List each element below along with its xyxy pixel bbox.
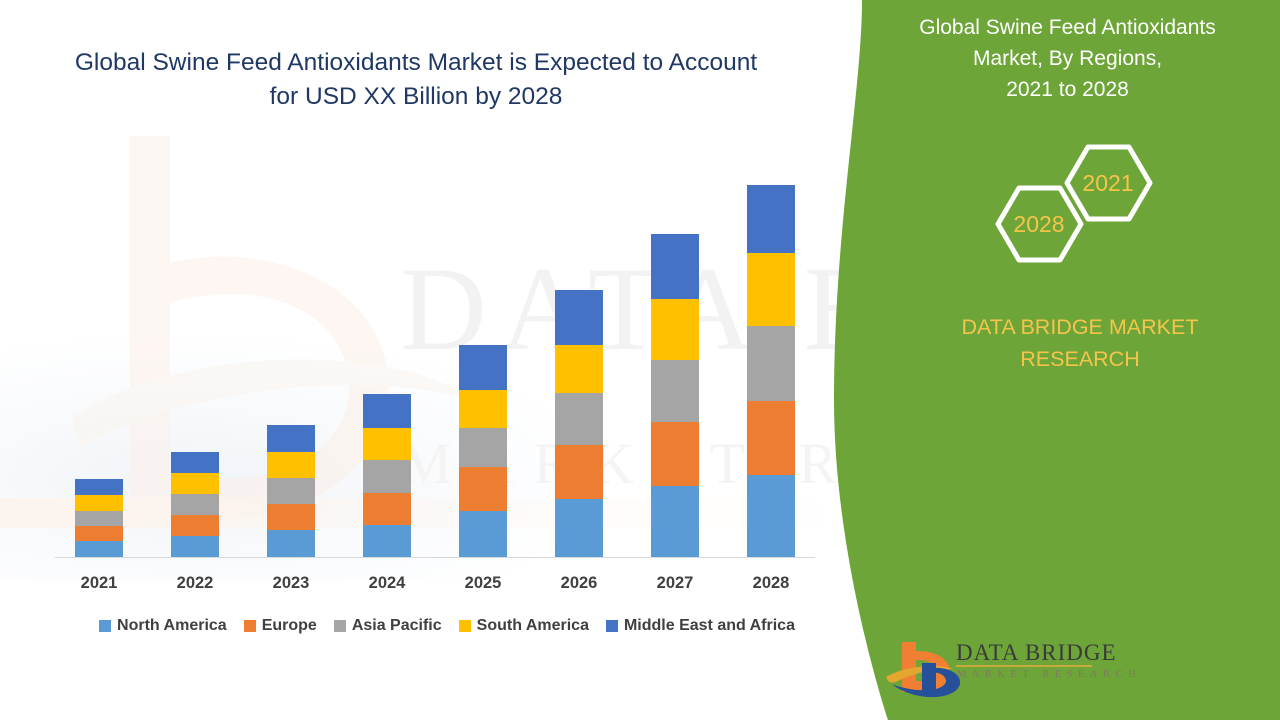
legend-item-north-america[interactable]: North America: [99, 617, 227, 635]
bar-2028[interactable]: [747, 185, 795, 557]
bar-segment-2022-europe[interactable]: [171, 515, 219, 536]
legend-item-asia-pacific[interactable]: Asia Pacific: [334, 617, 442, 635]
legend-swatch-icon: [334, 620, 346, 632]
legend-label: North America: [117, 617, 227, 635]
x-axis-label-2025: 2025: [438, 574, 528, 593]
x-axis-label-2022: 2022: [150, 574, 240, 593]
bar-segment-2023-north-america[interactable]: [267, 530, 315, 557]
x-axis-label-2021: 2021: [54, 574, 144, 593]
bar-segment-2026-europe[interactable]: [555, 445, 603, 499]
bar-segment-2024-middle-east-and-africa[interactable]: [363, 394, 411, 428]
bar-segment-2026-north-america[interactable]: [555, 499, 603, 557]
bar-segment-2028-middle-east-and-africa[interactable]: [747, 185, 795, 253]
hexagon-pair: 2021 2028: [960, 140, 1190, 290]
x-axis-line: [55, 557, 815, 558]
bar-segment-2027-north-america[interactable]: [651, 486, 699, 557]
x-axis-label-2023: 2023: [246, 574, 336, 593]
legend-swatch-icon: [459, 620, 471, 632]
legend-swatch-icon: [99, 620, 111, 632]
bar-segment-2026-middle-east-and-africa[interactable]: [555, 290, 603, 345]
panel-title-line-3: 2021 to 2028: [1006, 78, 1129, 101]
panel-title-line-1: Global Swine Feed Antioxidants: [919, 16, 1216, 39]
legend-item-europe[interactable]: Europe: [244, 617, 317, 635]
bar-segment-2023-europe[interactable]: [267, 504, 315, 530]
logo-wordmark: DATA BRIDGE: [956, 640, 1117, 666]
bar-segment-2028-south-america[interactable]: [747, 253, 795, 326]
bar-segment-2027-europe[interactable]: [651, 422, 699, 486]
bar-segment-2028-europe[interactable]: [747, 401, 795, 475]
bar-segment-2028-asia-pacific[interactable]: [747, 326, 795, 401]
hexagon-label-2028: 2028: [1001, 211, 1077, 238]
bar-segment-2021-south-america[interactable]: [75, 495, 123, 511]
brand-line-1: DATA BRIDGE MARKET: [962, 315, 1199, 339]
legend-label: Middle East and Africa: [624, 617, 795, 635]
bar-segment-2025-asia-pacific[interactable]: [459, 428, 507, 467]
bar-segment-2024-south-america[interactable]: [363, 428, 411, 460]
bar-segment-2025-middle-east-and-africa[interactable]: [459, 345, 507, 390]
bar-segment-2024-asia-pacific[interactable]: [363, 460, 411, 493]
bar-2025[interactable]: [459, 345, 507, 557]
bar-segment-2026-south-america[interactable]: [555, 345, 603, 393]
legend-label: South America: [477, 617, 589, 635]
bar-2023[interactable]: [267, 425, 315, 557]
bar-segment-2022-north-america[interactable]: [171, 536, 219, 557]
legend-item-south-america[interactable]: South America: [459, 617, 589, 635]
bar-segment-2023-asia-pacific[interactable]: [267, 478, 315, 504]
chart-legend: North AmericaEuropeAsia PacificSouth Ame…: [52, 617, 842, 635]
bar-segment-2021-north-america[interactable]: [75, 541, 123, 557]
legend-swatch-icon: [244, 620, 256, 632]
bar-segment-2025-europe[interactable]: [459, 467, 507, 511]
legend-label: Asia Pacific: [352, 617, 442, 635]
stacked-bar-chart: 20212022202320242025202620272028: [0, 0, 860, 720]
panel-title: Global Swine Feed Antioxidants Market, B…: [855, 12, 1280, 105]
bar-2027[interactable]: [651, 234, 699, 557]
bar-2022[interactable]: [171, 452, 219, 557]
legend-swatch-icon: [606, 620, 618, 632]
bar-segment-2023-middle-east-and-africa[interactable]: [267, 425, 315, 452]
bar-segment-2028-north-america[interactable]: [747, 475, 795, 557]
bar-2024[interactable]: [363, 394, 411, 557]
brand-name: DATA BRIDGE MARKET RESEARCH: [930, 311, 1230, 375]
bar-segment-2021-asia-pacific[interactable]: [75, 511, 123, 526]
bar-segment-2023-south-america[interactable]: [267, 452, 315, 478]
bar-segment-2026-asia-pacific[interactable]: [555, 393, 603, 445]
bar-segment-2024-europe[interactable]: [363, 493, 411, 525]
x-axis-label-2024: 2024: [342, 574, 432, 593]
bar-2021[interactable]: [75, 479, 123, 557]
legend-item-middle-east-and-africa[interactable]: Middle East and Africa: [606, 617, 795, 635]
bar-segment-2027-middle-east-and-africa[interactable]: [651, 234, 699, 299]
panel-title-line-2: Market, By Regions,: [973, 47, 1162, 70]
bar-segment-2021-europe[interactable]: [75, 526, 123, 541]
brand-line-2: RESEARCH: [1020, 347, 1139, 371]
hexagon-label-2021: 2021: [1070, 170, 1146, 197]
logo-tagline: MARKET RESEARCH: [957, 669, 1141, 680]
x-axis-label-2027: 2027: [630, 574, 720, 593]
bar-segment-2022-asia-pacific[interactable]: [171, 494, 219, 515]
bar-segment-2022-south-america[interactable]: [171, 473, 219, 494]
bar-segment-2025-north-america[interactable]: [459, 511, 507, 557]
legend-label: Europe: [262, 617, 317, 635]
bar-segment-2025-south-america[interactable]: [459, 390, 507, 428]
bar-2026[interactable]: [555, 290, 603, 557]
bar-segment-2024-north-america[interactable]: [363, 525, 411, 557]
infographic-root: DATA BRIDGE MARKET RESEARCH Global Swine…: [0, 0, 1280, 720]
bar-segment-2027-asia-pacific[interactable]: [651, 360, 699, 422]
logo-divider: [956, 665, 1092, 667]
x-axis-label-2026: 2026: [534, 574, 624, 593]
bar-segment-2027-south-america[interactable]: [651, 299, 699, 360]
bar-segment-2021-middle-east-and-africa[interactable]: [75, 479, 123, 495]
bar-segment-2022-middle-east-and-africa[interactable]: [171, 452, 219, 473]
